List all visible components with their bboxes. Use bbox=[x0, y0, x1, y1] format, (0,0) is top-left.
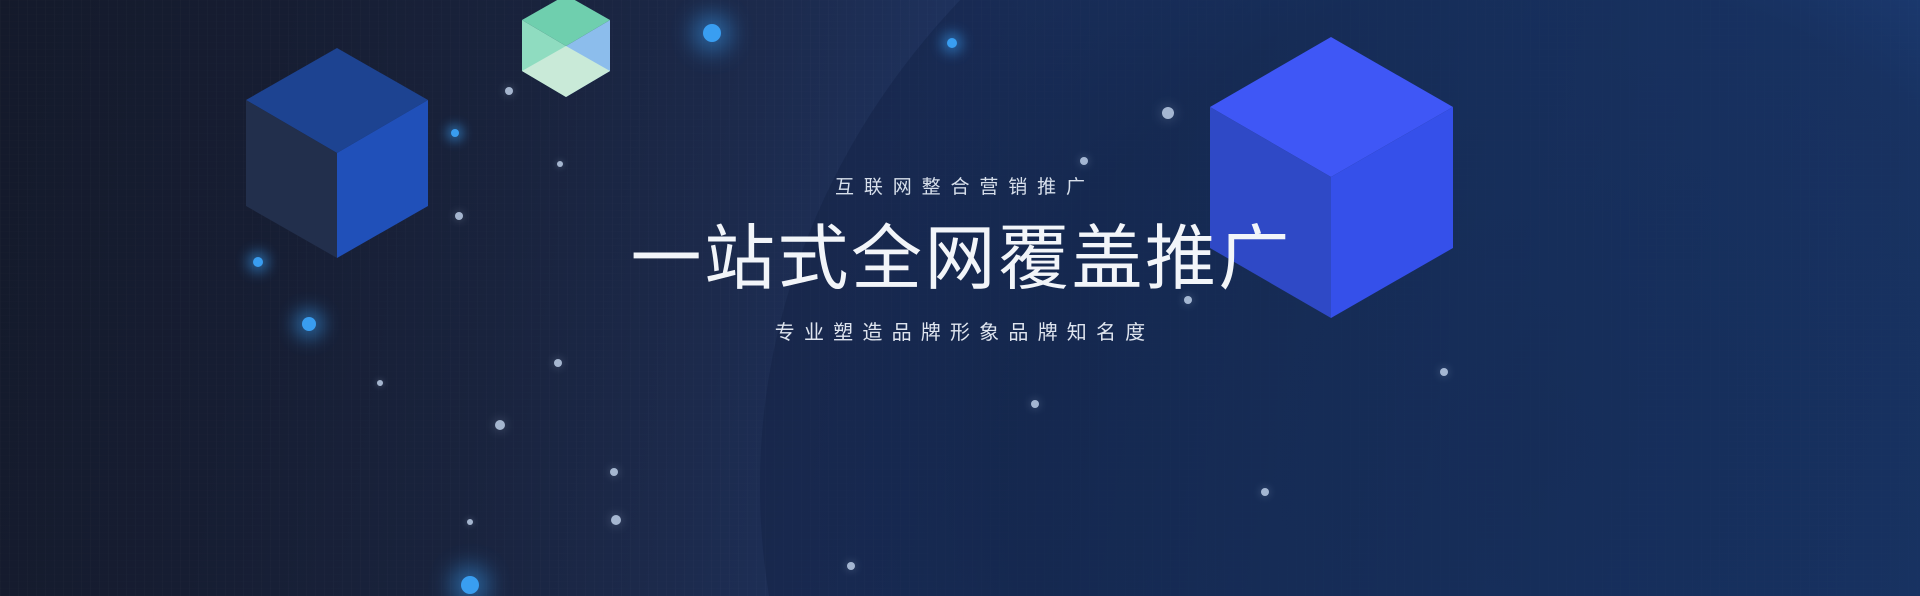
banner-copy: 互联网整合营销推广 一站式全网覆盖推广 专业塑造品牌形象品牌知名度 bbox=[0, 178, 1920, 343]
particle-dot bbox=[451, 129, 459, 137]
particle-dot bbox=[1261, 488, 1269, 496]
banner-subline: 专业塑造品牌形象品牌知名度 bbox=[0, 323, 1920, 343]
particle-dot bbox=[505, 87, 513, 95]
particle-dot bbox=[1031, 400, 1039, 408]
particle-dot bbox=[1080, 157, 1088, 165]
particle-dot bbox=[495, 420, 505, 430]
particle-dot bbox=[377, 380, 383, 386]
particle-dot bbox=[557, 161, 563, 167]
banner-eyebrow: 互联网整合营销推广 bbox=[0, 178, 1920, 197]
promo-banner: 互联网整合营销推广 一站式全网覆盖推广 专业塑造品牌形象品牌知名度 bbox=[0, 0, 1920, 596]
particle-dot bbox=[947, 38, 957, 48]
particle-dot bbox=[1162, 107, 1174, 119]
particle-dot bbox=[610, 468, 618, 476]
banner-headline: 一站式全网覆盖推广 bbox=[0, 222, 1920, 297]
particle-dot bbox=[611, 515, 621, 525]
particle-dot bbox=[847, 562, 855, 570]
particle-dot bbox=[703, 24, 721, 42]
particle-dot bbox=[461, 576, 479, 594]
particle-dot bbox=[1440, 368, 1448, 376]
particle-dot bbox=[467, 519, 473, 525]
particle-dot bbox=[554, 359, 562, 367]
